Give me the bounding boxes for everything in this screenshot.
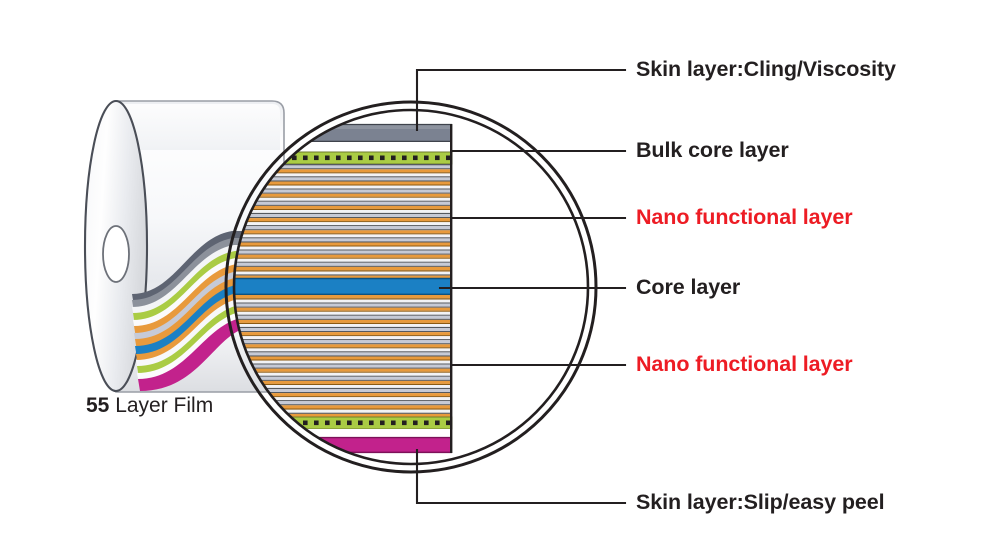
band-bulk-core-lower: [226, 295, 452, 417]
diagram-canvas: [0, 0, 988, 545]
callout-label-skin-layer-slip: Skin layer:Slip/easy peel: [636, 492, 884, 514]
roll-caption: 55 Layer Film: [86, 395, 213, 416]
callout-label-nano-functional-layer-upper: Nano functional layer: [636, 207, 853, 229]
roll-caption-count: 55: [86, 394, 109, 417]
callout-label-bulk-core-layer: Bulk core layer: [636, 140, 789, 162]
band-skin-layer-slip: [226, 437, 452, 453]
roll-caption-text: Layer Film: [109, 394, 213, 417]
roll-body-highlight: [120, 104, 280, 150]
band-gap-lower: [226, 429, 452, 437]
roll-core-hole: [103, 226, 129, 282]
callout-label-skin-layer-cling: Skin layer:Cling/Viscosity: [636, 59, 896, 81]
band-core-layer: [226, 278, 452, 295]
callout-label-core-layer: Core layer: [636, 277, 740, 299]
film-structure-diagram: Skin layer:Cling/Viscosity Bulk core lay…: [0, 0, 988, 545]
callout-label-nano-functional-layer-lower: Nano functional layer: [636, 354, 853, 376]
